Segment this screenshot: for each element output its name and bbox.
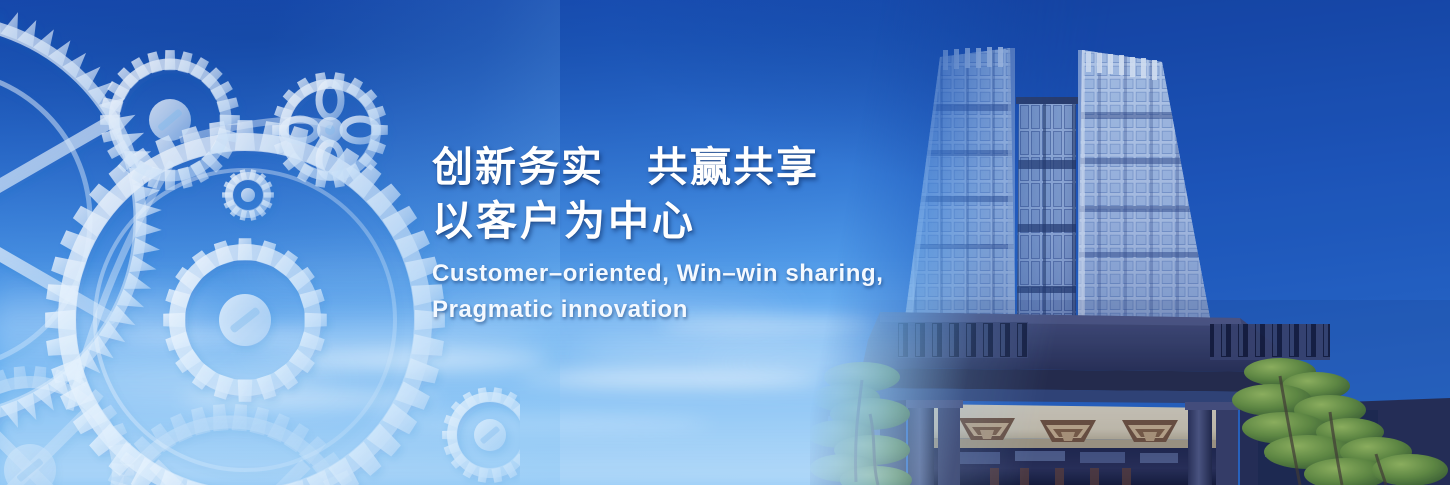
corporate-hero-banner: 创新务实 共赢共享 以客户为中心 Customer–oriented, Win–… (0, 0, 1450, 485)
headline-chinese-line1: 创新务实 共赢共享 (432, 140, 992, 194)
subtitle-english-line1: Customer–oriented, Win–win sharing, (432, 256, 992, 292)
headline-chinese-line2: 以客户为中心 (432, 194, 992, 248)
subtitle-english-line2: Pragmatic innovation (432, 292, 992, 328)
slogan-copy-block: 创新务实 共赢共享 以客户为中心 Customer–oriented, Win–… (432, 140, 992, 328)
